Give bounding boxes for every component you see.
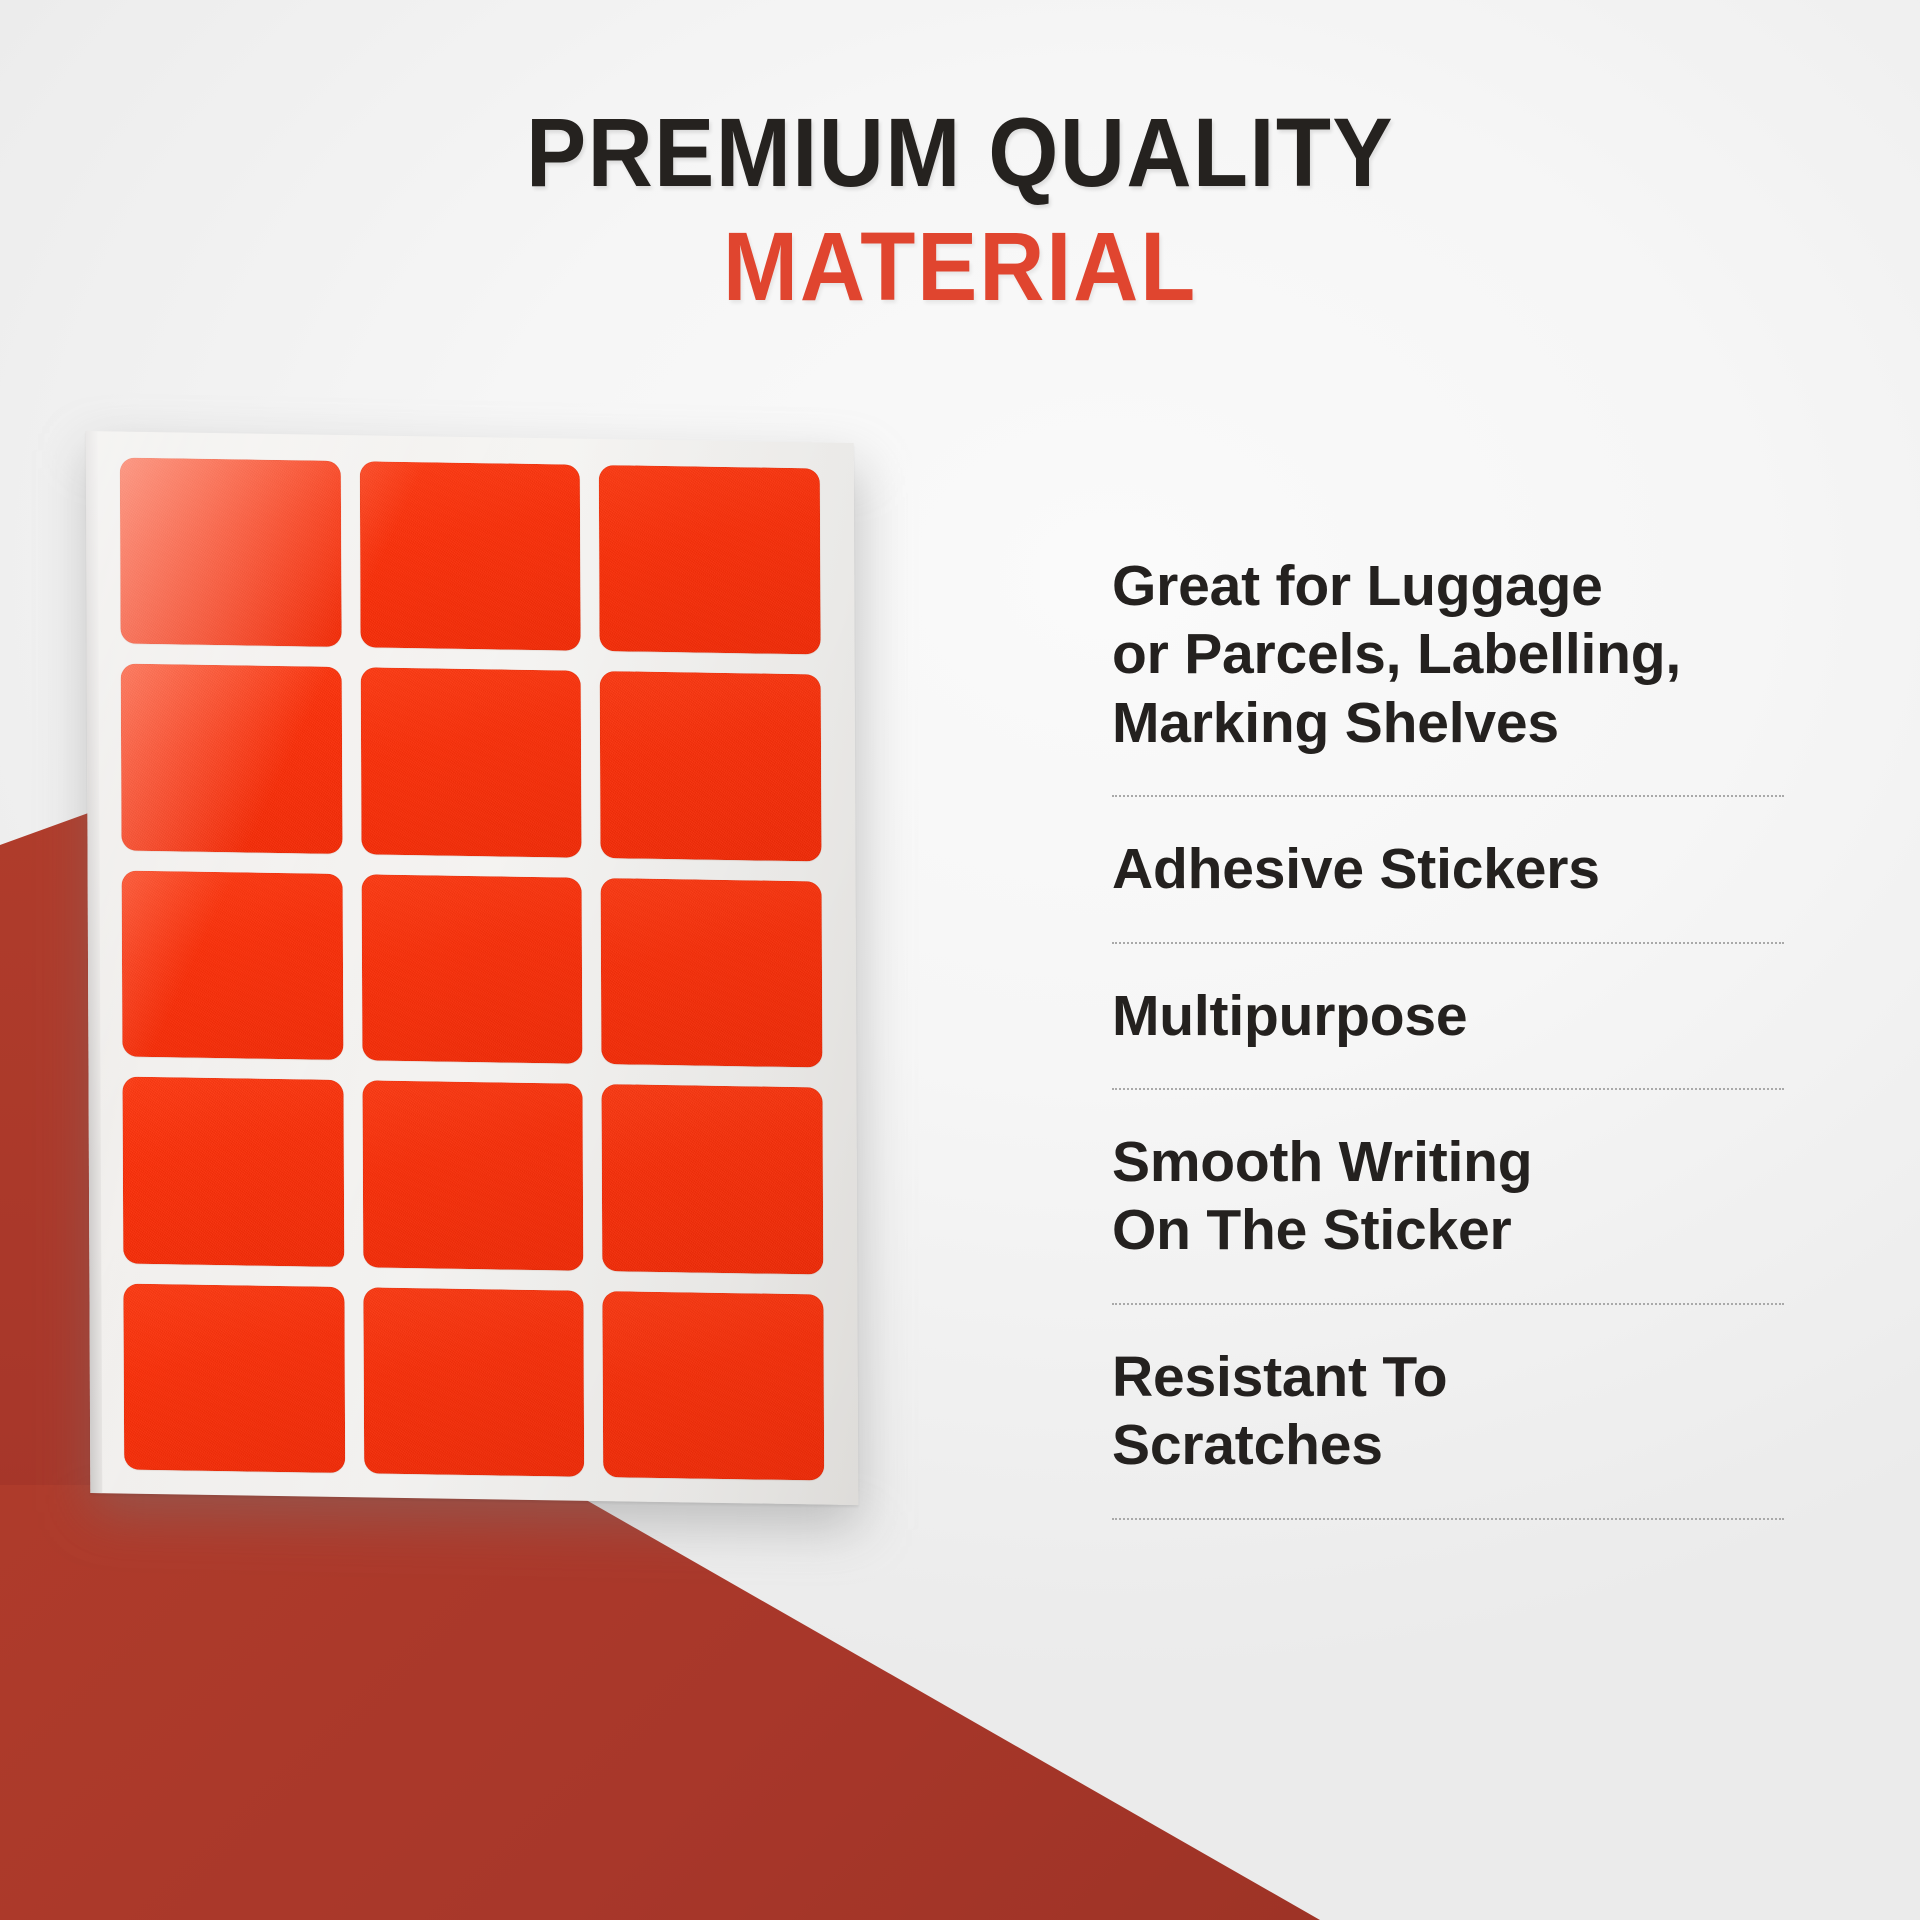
feature-item-3: Multipurpose: [1112, 982, 1784, 1050]
feature-text: Multipurpose: [1112, 982, 1784, 1050]
feature-text: Adhesive Stickers: [1112, 835, 1784, 903]
spacer: [1112, 757, 1784, 795]
spacer: [1112, 944, 1784, 982]
page-title-primary: PREMIUM QUALITY: [67, 104, 1853, 201]
sticker-label: [361, 874, 582, 1064]
sticker-label: [601, 878, 822, 1068]
spacer: [1112, 1090, 1784, 1128]
feature-item-1: Great for Luggage or Parcels, Labelling,…: [1112, 552, 1784, 757]
sheet-left-edge: [86, 431, 103, 1493]
sticker-label: [602, 1084, 823, 1274]
feature-list: Great for Luggage or Parcels, Labelling,…: [1112, 552, 1784, 1520]
feature-item-5: Resistant To Scratches: [1112, 1343, 1784, 1480]
feature-text: Resistant To Scratches: [1112, 1343, 1784, 1480]
product-infographic: PREMIUM QUALITY MATERIAL: [0, 0, 1920, 1920]
sticker-label: [121, 664, 342, 854]
spacer: [1112, 1305, 1784, 1343]
sticker-label-grid: [120, 457, 824, 1480]
sticker-label: [360, 668, 581, 858]
sticker-label: [603, 1291, 824, 1481]
sticker-label: [363, 1287, 584, 1477]
sticker-label: [359, 461, 580, 651]
spacer: [1112, 1265, 1784, 1303]
header-block: PREMIUM QUALITY MATERIAL: [0, 104, 1920, 320]
sticker-label: [123, 1077, 344, 1267]
feature-text: Great for Luggage or Parcels, Labelling,…: [1112, 552, 1784, 757]
sticker-backing-sheet: [86, 431, 859, 1505]
sticker-sheet-image: [88, 437, 878, 1527]
sticker-label: [122, 870, 343, 1060]
spacer: [1112, 797, 1784, 835]
feature-item-4: Smooth Writing On The Sticker: [1112, 1128, 1784, 1265]
feature-item-2: Adhesive Stickers: [1112, 835, 1784, 903]
sticker-label: [599, 465, 820, 655]
sticker-label: [362, 1080, 583, 1270]
sticker-label: [123, 1283, 344, 1473]
sticker-label: [600, 671, 821, 861]
feature-divider: [1112, 1518, 1784, 1520]
spacer: [1112, 1050, 1784, 1088]
sticker-label: [120, 457, 341, 647]
spacer: [1112, 904, 1784, 942]
spacer: [1112, 1480, 1784, 1518]
page-title-accent: MATERIAL: [67, 215, 1853, 320]
feature-text: Smooth Writing On The Sticker: [1112, 1128, 1784, 1265]
